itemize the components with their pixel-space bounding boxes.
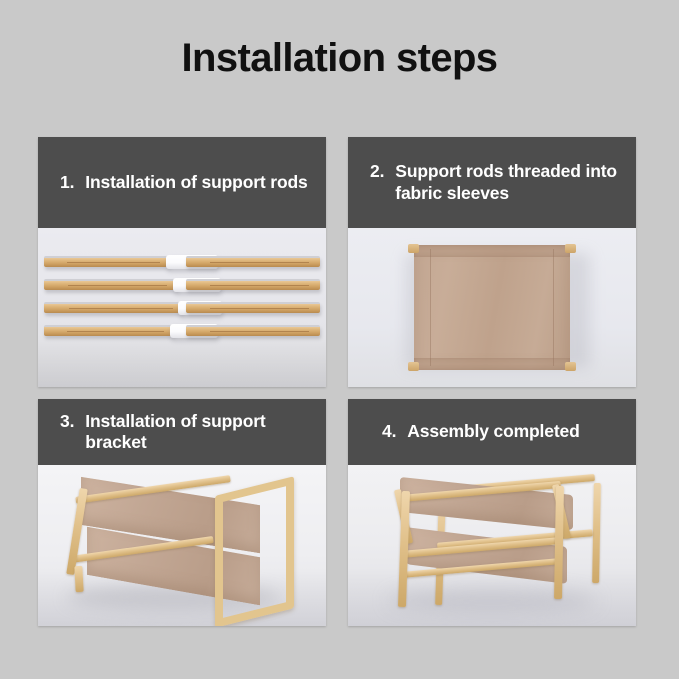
step-4-label: Assembly completed [407, 421, 579, 442]
wooden-rod-segment [44, 279, 178, 290]
photo-floor-gradient [38, 339, 326, 387]
page-title: Installation steps [0, 36, 679, 80]
step-3-caption: 3. Installation of support bracket [60, 411, 310, 454]
fabric-panel [414, 245, 570, 369]
step-4-photo [348, 465, 636, 626]
rod-end-tip [565, 244, 576, 253]
wooden-rod-segment [44, 302, 184, 313]
step-panel-2: 2. Support rods threaded into fabric sle… [348, 137, 636, 387]
step-3-number: 3. [60, 411, 74, 432]
photo-drop-shadow [388, 589, 595, 612]
wooden-leg [592, 483, 601, 583]
fabric-seam [553, 249, 554, 366]
step-4-header: 4. Assembly completed [348, 399, 636, 465]
step-1-caption: 1. Installation of support rods [60, 172, 308, 193]
rod-end-tip [408, 362, 419, 371]
step-4-caption: 4. Assembly completed [382, 421, 580, 442]
fabric-sleeve-bottom [414, 358, 570, 369]
support-bracket-frame [215, 476, 294, 626]
steps-grid: 1. Installation of support rods [38, 137, 636, 626]
rod-end-tip [565, 362, 576, 371]
wooden-rod-segment [44, 325, 174, 336]
step-2-number: 2. [370, 161, 384, 182]
step-panel-1: 1. Installation of support rods [38, 137, 326, 387]
step-3-photo [38, 465, 326, 626]
step-4-number: 4. [382, 421, 396, 442]
step-3-header: 3. Installation of support bracket [38, 399, 326, 465]
wooden-rod-segment [186, 279, 320, 290]
support-rod-pair [42, 279, 322, 292]
step-1-photo [38, 228, 326, 387]
rod-end-tip [408, 244, 419, 253]
wooden-rod-segment [44, 256, 170, 267]
support-rod-pair [42, 325, 322, 338]
fabric-seam [430, 249, 431, 366]
support-rod-pair [42, 256, 322, 269]
step-panel-3: 3. Installation of support bracket [38, 399, 326, 626]
wooden-rod-segment [186, 325, 320, 336]
step-2-caption: 2. Support rods threaded into fabric sle… [370, 161, 620, 204]
step-panel-4: 4. Assembly completed [348, 399, 636, 626]
step-1-header: 1. Installation of support rods [38, 137, 326, 228]
wooden-rod-segment [186, 302, 320, 313]
step-2-header: 2. Support rods threaded into fabric sle… [348, 137, 636, 228]
step-1-number: 1. [60, 172, 74, 193]
step-3-label: Installation of support bracket [85, 411, 310, 454]
step-1-label: Installation of support rods [85, 172, 307, 193]
support-rod-pair [42, 302, 322, 315]
fabric-sleeve-top [414, 245, 570, 256]
installation-steps-infographic: Installation steps 1. Installation of su… [0, 0, 679, 679]
step-2-label: Support rods threaded into fabric sleeve… [395, 161, 620, 204]
wooden-foot [75, 566, 84, 592]
wooden-rod-segment [186, 256, 320, 267]
step-2-photo [348, 228, 636, 387]
